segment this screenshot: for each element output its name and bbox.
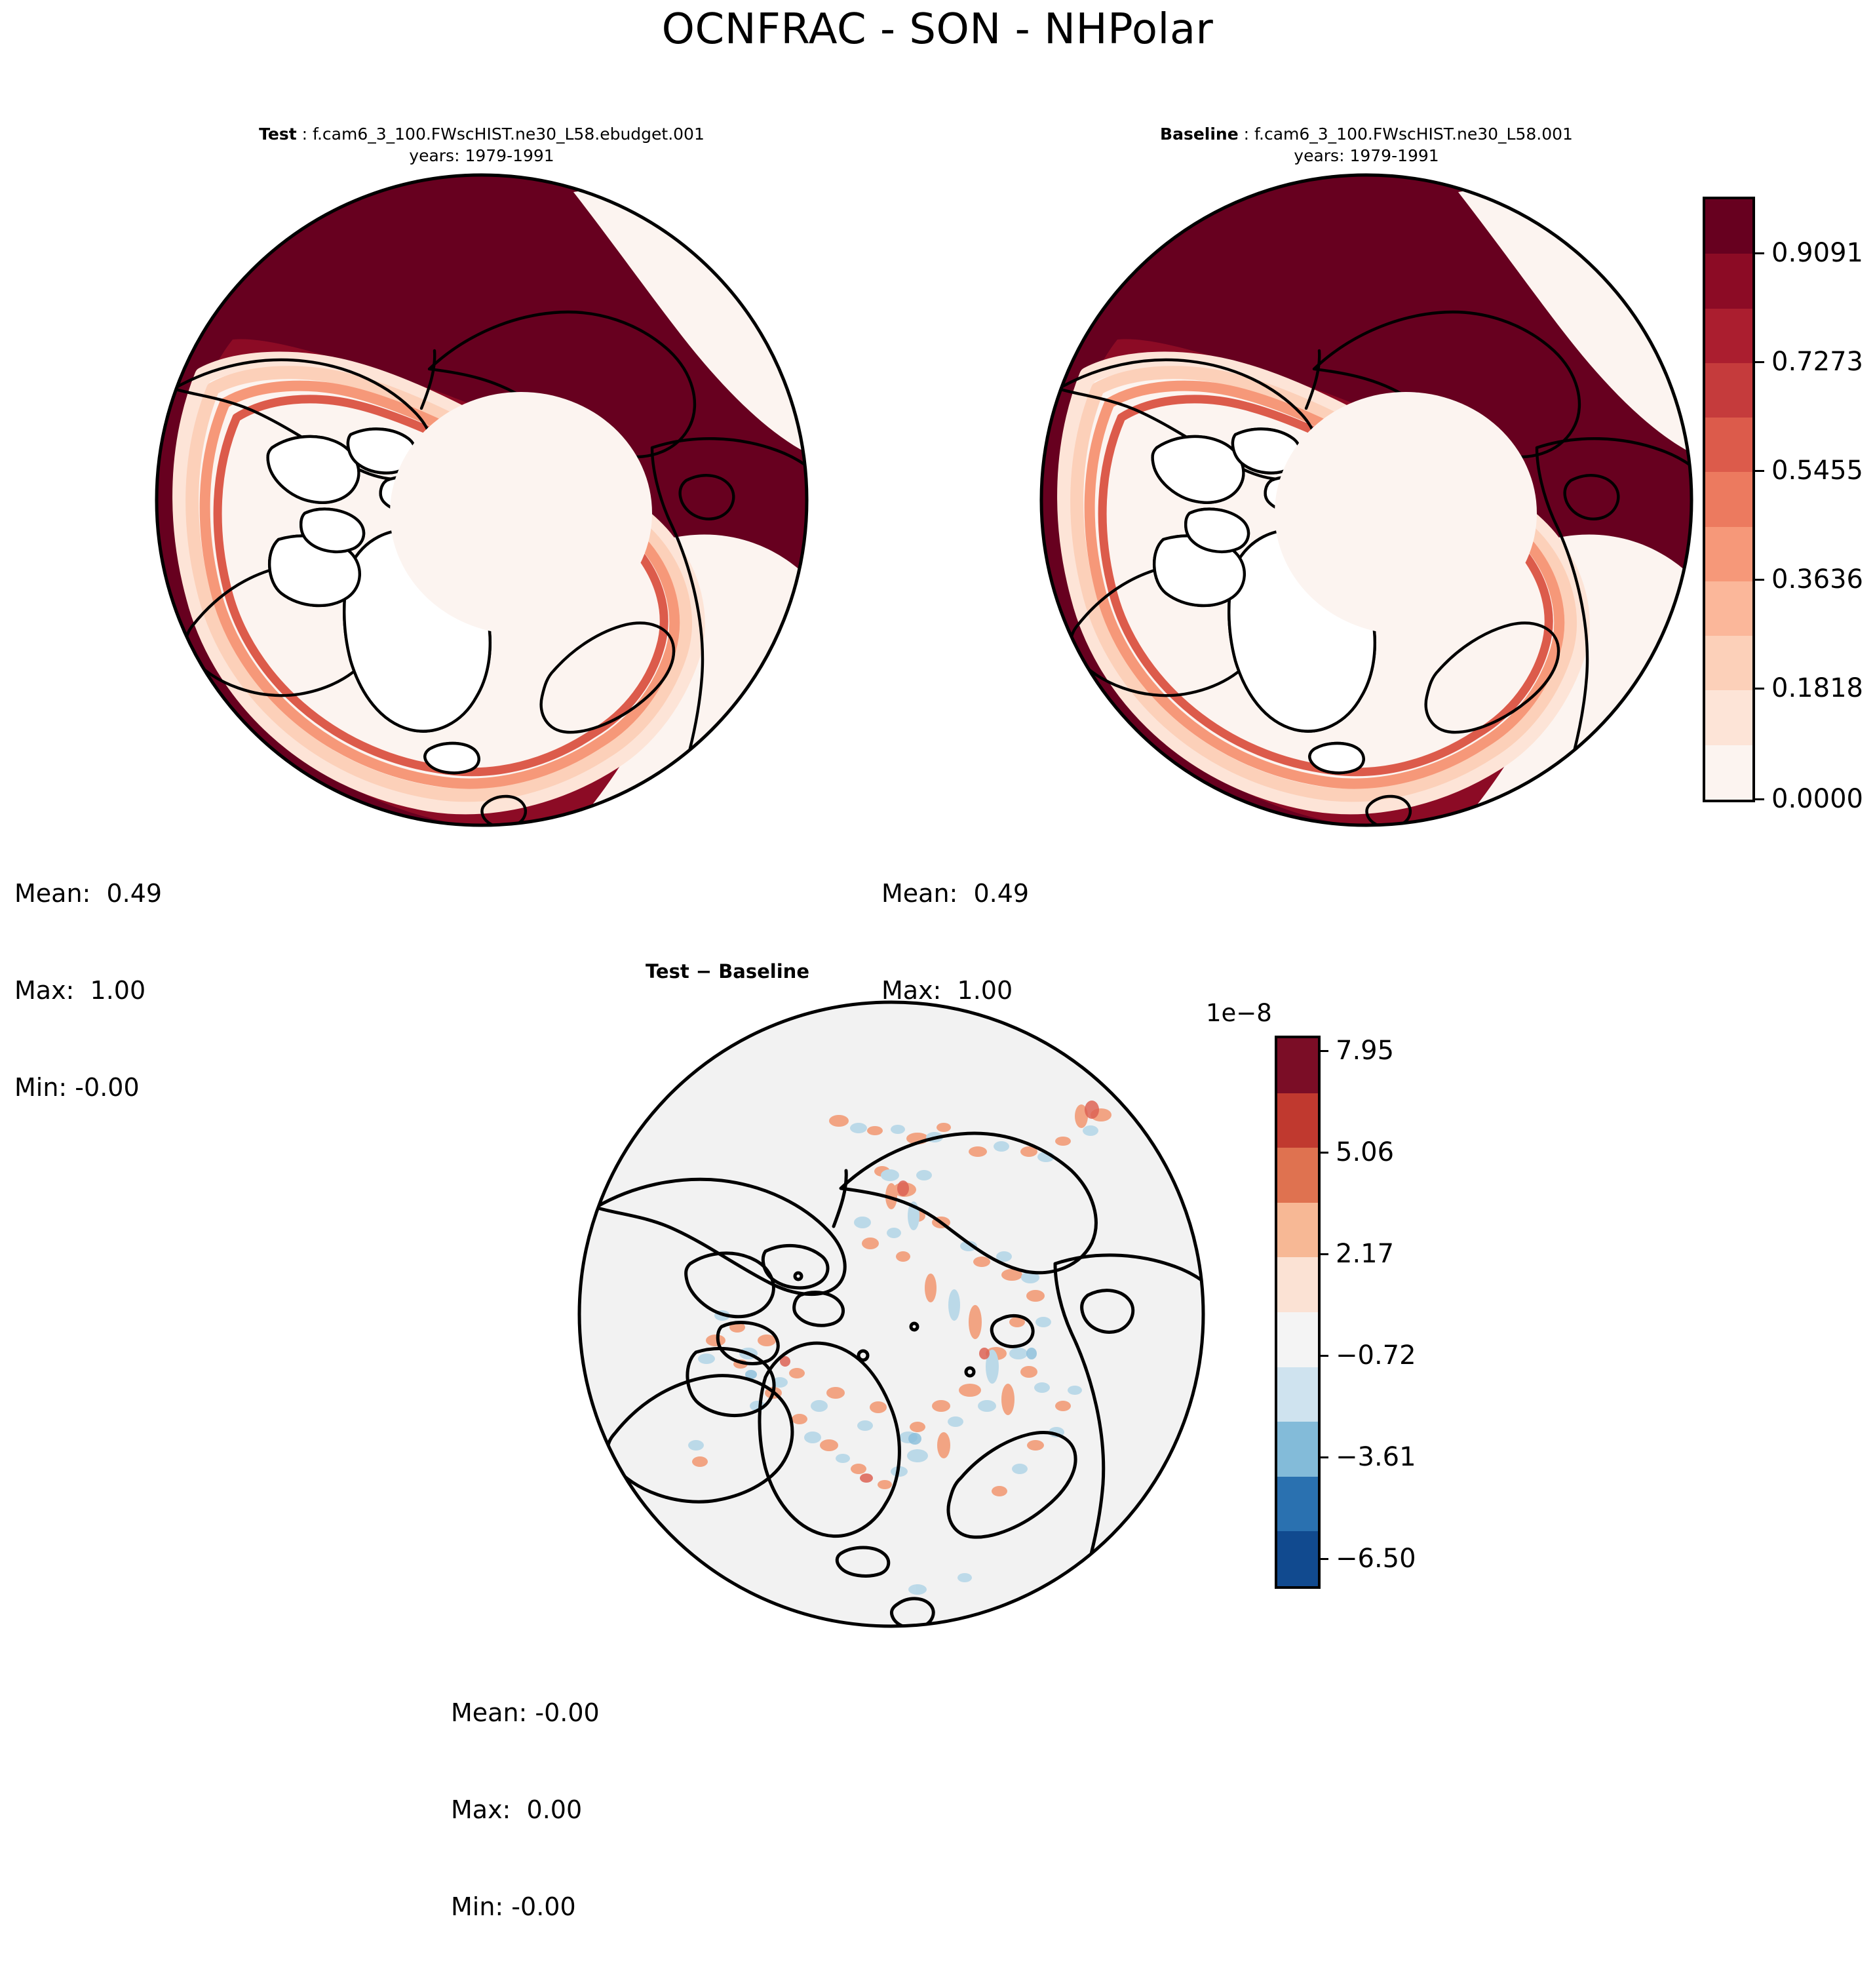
difference-stats: Mean: -0.00 Max: 0.00 Min: -0.00 xyxy=(451,1632,600,1988)
diff-cbar-tick-0: 7.95 xyxy=(1319,1036,1394,1066)
tick-dash-icon xyxy=(1319,1558,1328,1560)
baseline-title-separator: : xyxy=(1239,125,1254,144)
figure-canvas: OCNFRAC - SON - NHPolar Test : f.cam6_3_… xyxy=(0,0,1875,1748)
tick-dash-icon xyxy=(1319,1355,1328,1357)
difference-stat-min: Min: -0.00 xyxy=(451,1891,600,1923)
test-case-name: f.cam6_3_100.FWscHIST.ne30_L58.ebudget.0… xyxy=(313,125,705,144)
test-map-panel[interactable] xyxy=(154,172,809,828)
diff-cbar-tick-1: 5.06 xyxy=(1319,1137,1394,1167)
main-cbar-tick-4: 0.7273 xyxy=(1755,347,1863,377)
test-stat-max: Max: 1.00 xyxy=(14,975,162,1007)
test-panel-title: Test : f.cam6_3_100.FWscHIST.ne30_L58.eb… xyxy=(154,123,809,166)
difference-stat-mean: Mean: -0.00 xyxy=(451,1697,600,1729)
baseline-case-name: f.cam6_3_100.FWscHIST.ne30_L58.001 xyxy=(1254,125,1573,144)
baseline-role-label: Baseline xyxy=(1160,125,1239,144)
tick-dash-icon xyxy=(1755,252,1764,254)
test-role-label: Test xyxy=(259,125,297,144)
tick-dash-icon xyxy=(1755,361,1764,363)
main-cbar-tick-2: 0.3636 xyxy=(1755,564,1863,594)
tick-dash-icon xyxy=(1319,1152,1328,1154)
baseline-panel-title: Baseline : f.cam6_3_100.FWscHIST.ne30_L5… xyxy=(1039,123,1694,166)
main-colorbar[interactable]: 0.9091 0.7273 0.5455 0.3636 0.1818 0.000… xyxy=(1703,197,1873,806)
tick-dash-icon xyxy=(1755,798,1764,800)
tick-dash-icon xyxy=(1755,579,1764,581)
test-stat-mean: Mean: 0.49 xyxy=(14,878,162,910)
test-years: years: 1979-1991 xyxy=(154,145,809,166)
tick-dash-icon xyxy=(1319,1456,1328,1458)
difference-polar-map[interactable] xyxy=(577,1000,1206,1629)
tick-dash-icon xyxy=(1319,1050,1328,1052)
main-cbar-tick-1: 0.1818 xyxy=(1755,673,1863,703)
difference-colorbar[interactable]: 1e−8 7.95 5.06 2.17 xyxy=(1232,1009,1448,1599)
diff-cbar-tick-3: −0.72 xyxy=(1319,1340,1416,1371)
main-cbar-tick-5: 0.9091 xyxy=(1755,238,1863,268)
difference-map-panel[interactable] xyxy=(577,1000,1206,1629)
page-title: OCNFRAC - SON - NHPolar xyxy=(0,5,1875,54)
baseline-polar-map[interactable] xyxy=(1039,172,1694,828)
diff-cbar-tick-4: −3.61 xyxy=(1319,1442,1416,1472)
tick-dash-icon xyxy=(1319,1253,1328,1255)
test-stats: Mean: 0.49 Max: 1.00 Min: -0.00 xyxy=(14,813,162,1169)
tick-dash-icon xyxy=(1755,688,1764,690)
test-stat-min: Min: -0.00 xyxy=(14,1072,162,1104)
main-colorbar-gradient[interactable] xyxy=(1703,197,1755,802)
diff-cbar-tick-2: 2.17 xyxy=(1319,1239,1394,1269)
diff-cbar-tick-5: −6.50 xyxy=(1319,1544,1416,1574)
baseline-years: years: 1979-1991 xyxy=(1039,145,1694,166)
difference-colorbar-gradient[interactable] xyxy=(1275,1036,1321,1589)
tick-dash-icon xyxy=(1755,470,1764,472)
baseline-stat-mean: Mean: 0.49 xyxy=(881,878,1029,910)
difference-stat-max: Max: 0.00 xyxy=(451,1794,600,1826)
test-title-separator: : xyxy=(297,125,313,144)
difference-panel-title: Test − Baseline xyxy=(544,960,911,983)
test-polar-map[interactable] xyxy=(154,172,809,828)
main-cbar-tick-0: 0.0000 xyxy=(1755,784,1863,814)
difference-colorbar-offset: 1e−8 xyxy=(1206,999,1272,1027)
baseline-map-panel[interactable] xyxy=(1039,172,1694,828)
main-cbar-tick-3: 0.5455 xyxy=(1755,456,1863,486)
